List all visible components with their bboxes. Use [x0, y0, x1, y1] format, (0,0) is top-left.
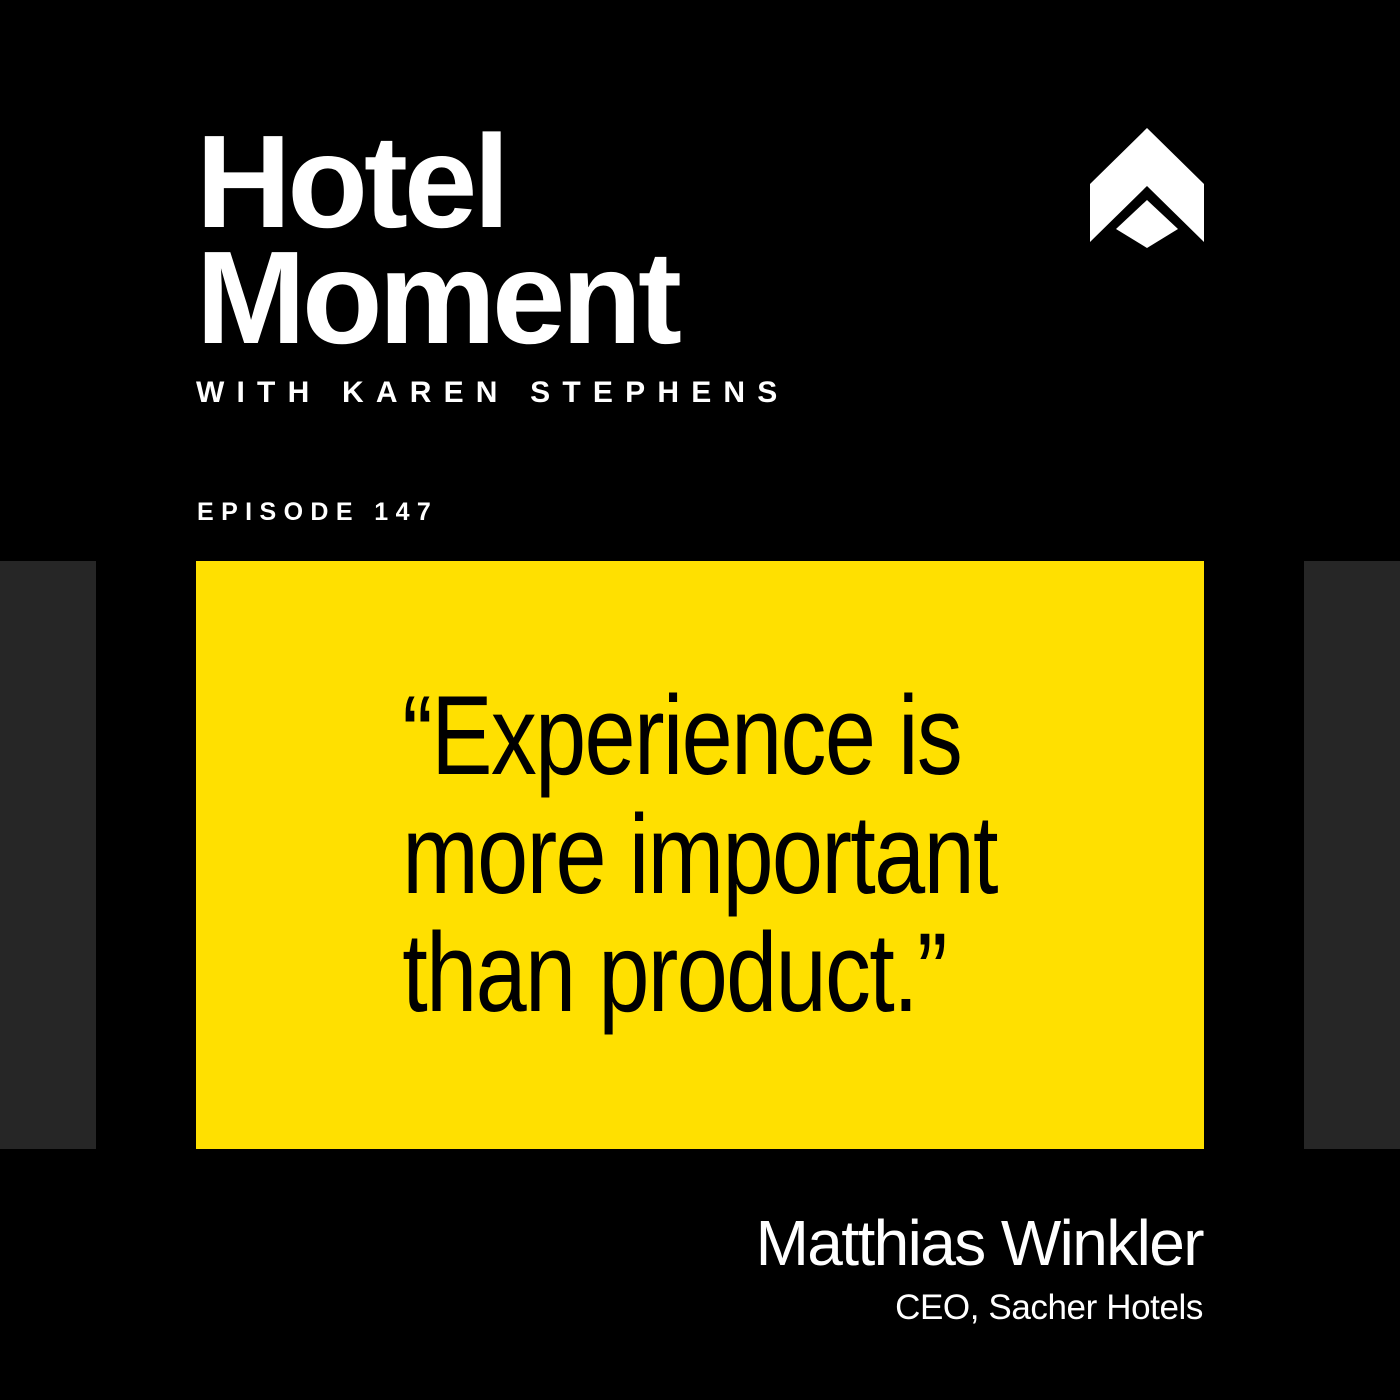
- chevron-diamond-logo-icon: [1090, 128, 1204, 248]
- quote-text: “Experience is more important than produ…: [403, 677, 998, 1033]
- quote-card: “Experience is more important than produ…: [196, 561, 1204, 1149]
- guest-attribution: Matthias Winkler CEO, Sacher Hotels: [303, 1210, 1203, 1328]
- guest-role: CEO, Sacher Hotels: [303, 1289, 1203, 1328]
- podcast-title-line-2: Moment: [196, 240, 956, 356]
- decor-panel-right: [1304, 561, 1400, 1149]
- podcast-cover-art: Hotel Moment WITH KAREN STEPHENS EPISODE…: [0, 0, 1400, 1400]
- podcast-title-line-1: Hotel: [196, 124, 956, 240]
- podcast-host-subtitle: WITH KAREN STEPHENS: [196, 378, 956, 408]
- episode-label: EPISODE 147: [197, 500, 438, 525]
- podcast-title-block: Hotel Moment WITH KAREN STEPHENS: [196, 124, 956, 408]
- decor-panel-left: [0, 561, 96, 1149]
- guest-name: Matthias Winkler: [303, 1210, 1203, 1277]
